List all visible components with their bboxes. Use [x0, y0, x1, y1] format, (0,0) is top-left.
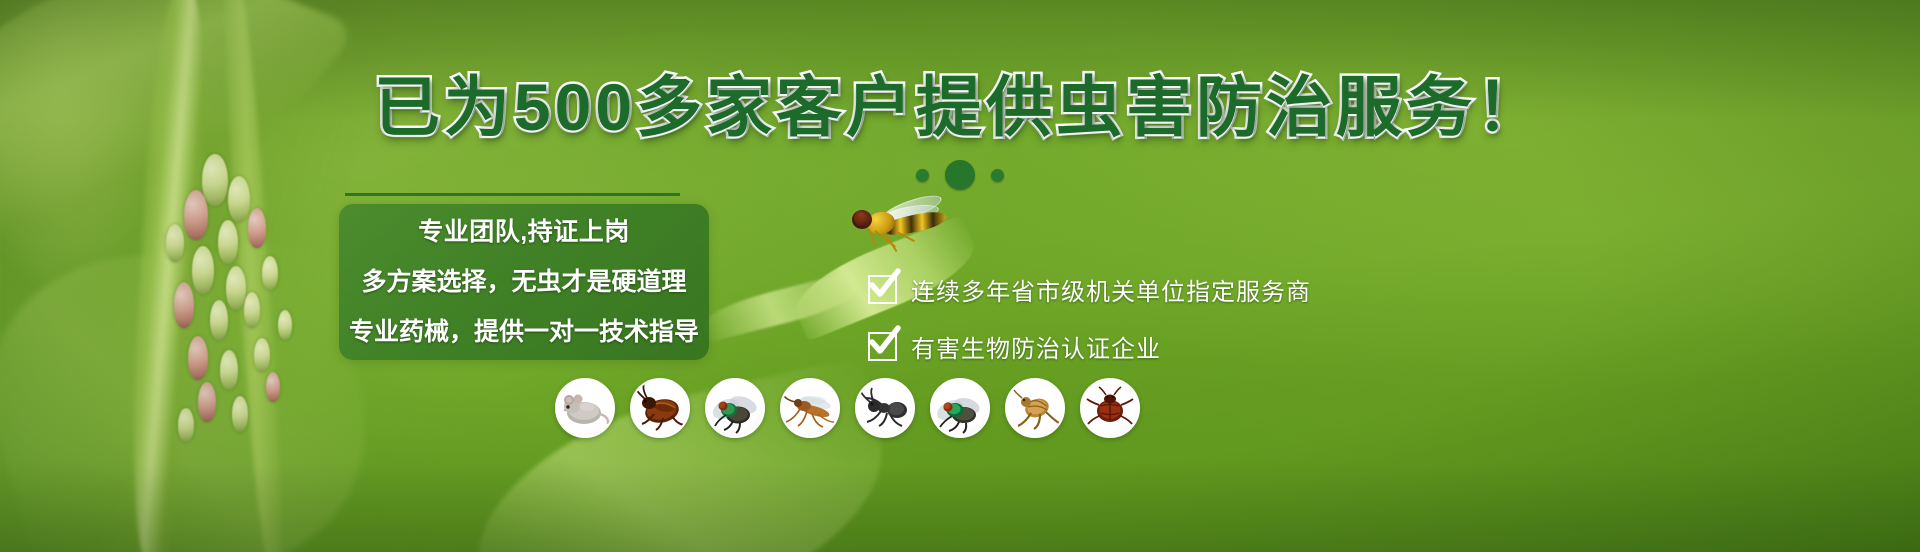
pest-icon-row: [555, 378, 1140, 438]
dot-small-left-icon: [916, 169, 929, 182]
background-bottom-shade: [0, 462, 1920, 552]
checklist: 连续多年省市级机关单位指定服务商 有害生物防治认证企业: [868, 272, 1311, 364]
blowfly-icon: [930, 378, 990, 438]
decorative-rule-left: [345, 193, 680, 196]
checklist-item-2: 有害生物防治认证企业: [868, 329, 1311, 364]
checklist-item-2-label: 有害生物防治认证企业: [911, 329, 1161, 364]
feature-panel-line-1: 专业团队,持证上岗: [418, 212, 629, 248]
feature-panel-line-3: 专业药械，提供一对一技术指导: [349, 312, 699, 348]
mosquito-icon: [780, 378, 840, 438]
flea-icon: [1005, 378, 1065, 438]
dot-small-right-icon: [991, 169, 1004, 182]
checklist-item-1: 连续多年省市级机关单位指定服务商: [868, 272, 1311, 307]
bedbug-icon: [1080, 378, 1140, 438]
banner-headline: 已为500多家客户提供虫害防治服务！: [0, 74, 1920, 140]
feature-panel-line-2: 多方案选择，无虫才是硬道理: [361, 262, 686, 298]
cockroach-icon: [630, 378, 690, 438]
mouse-icon: [555, 378, 615, 438]
banner-headline-text: 已为500多家客户提供虫害防治服务！: [374, 70, 1546, 144]
dot-large-icon: [945, 160, 975, 190]
checklist-item-1-label: 连续多年省市级机关单位指定服务商: [911, 272, 1311, 307]
decorative-dots: [0, 160, 1920, 190]
ant-icon: [855, 378, 915, 438]
housefly-icon: [705, 378, 765, 438]
promo-banner: 已为500多家客户提供虫害防治服务！ 专业团队,持证上岗 多方案选择，无虫才是硬…: [0, 0, 1920, 552]
checkbox-checked-icon: [868, 275, 897, 304]
checkbox-checked-icon: [868, 332, 897, 361]
feature-panel: 专业团队,持证上岗 多方案选择，无虫才是硬道理 专业药械，提供一对一技术指导: [339, 204, 709, 360]
